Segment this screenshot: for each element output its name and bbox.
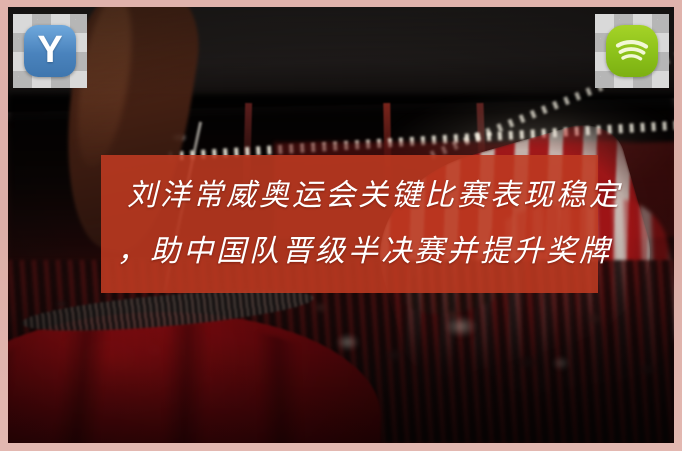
background-photo: 刘洋常威奥运会关键比赛表现稳定 ，助中国队晋级半决赛并提升奖牌 xyxy=(8,7,674,443)
spotify-icon[interactable] xyxy=(595,14,669,88)
screenshot-root: 刘洋常威奥运会关键比赛表现稳定 ，助中国队晋级半决赛并提升奖牌 Y xyxy=(0,0,682,451)
caption-line-1: 刘洋常威奥运会关键比赛表现稳定 xyxy=(113,168,586,224)
yandex-icon[interactable]: Y xyxy=(13,14,87,88)
yandex-icon-tile: Y xyxy=(24,25,76,77)
photo-frame: 刘洋常威奥运会关键比赛表现稳定 ，助中国队晋级半决赛并提升奖牌 xyxy=(0,0,682,451)
yandex-icon-letter: Y xyxy=(37,31,62,69)
spotify-waves-icon xyxy=(615,37,649,65)
caption-banner: 刘洋常威奥运会关键比赛表现稳定 ，助中国队晋级半决赛并提升奖牌 xyxy=(101,155,598,293)
spotify-icon-tile xyxy=(606,25,658,77)
caption-line-2: ，助中国队晋级半决赛并提升奖牌 xyxy=(113,224,586,280)
